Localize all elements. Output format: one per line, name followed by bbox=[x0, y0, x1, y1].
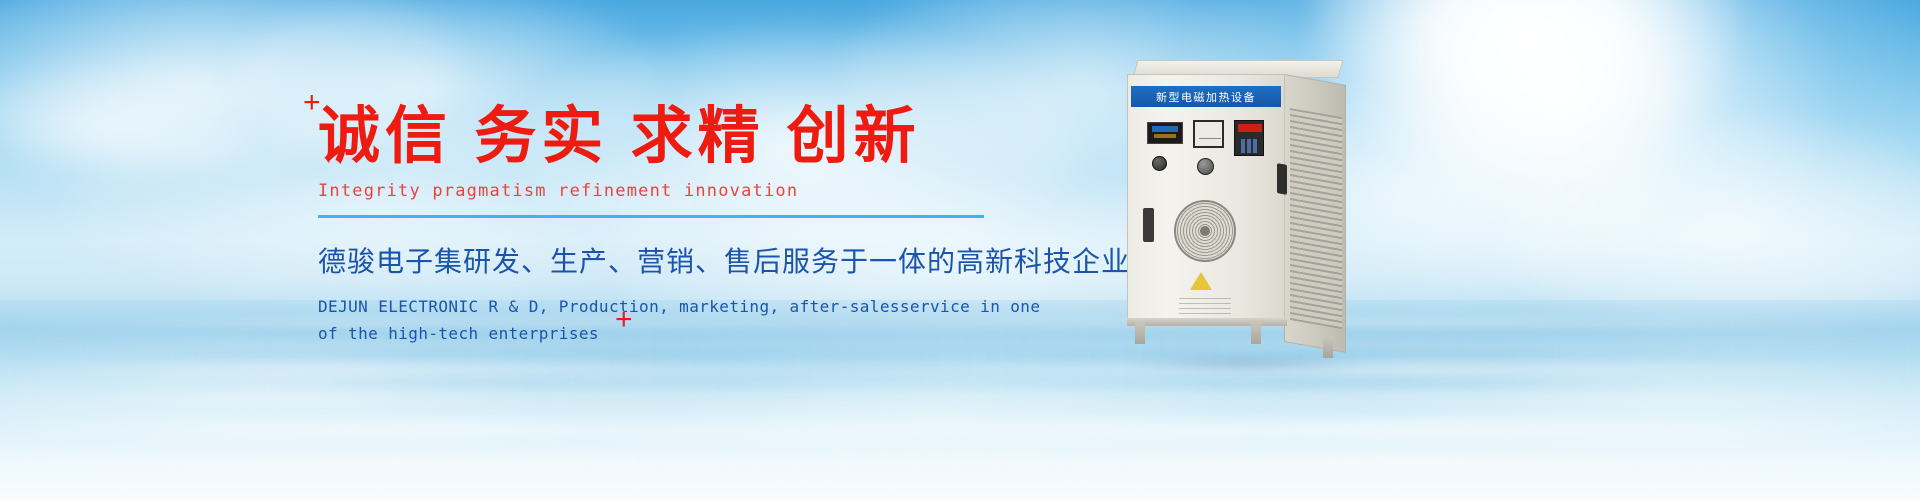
wave-streak bbox=[0, 455, 1920, 467]
cabinet-base bbox=[1127, 318, 1287, 326]
selector-knob-icon bbox=[1152, 156, 1167, 171]
dial-knob-icon bbox=[1197, 158, 1214, 175]
warning-triangle-icon bbox=[1190, 272, 1212, 290]
banner-text-block: 诚信 务实 求精 创新 Integrity pragmatism refinem… bbox=[318, 104, 1018, 347]
headline-chinese: 诚信 务实 求精 创新 bbox=[318, 104, 1018, 169]
promo-banner: + + 诚信 务实 求精 创新 Integrity pragmatism ref… bbox=[0, 0, 1920, 500]
wave-streak bbox=[0, 420, 1920, 438]
cabinet-foot bbox=[1323, 336, 1333, 358]
subtitle-chinese: 德骏电子集研发、生产、营销、售后服务于一体的高新科技企业 bbox=[318, 240, 1018, 280]
analog-gauge-icon bbox=[1193, 120, 1224, 148]
product-name-label: 新型电磁加热设备 bbox=[1156, 89, 1256, 105]
keypad-buttons-icon bbox=[1241, 139, 1259, 153]
led-readout-icon bbox=[1238, 124, 1262, 132]
wave-streak bbox=[0, 392, 1920, 402]
cabinet-foot bbox=[1251, 322, 1261, 344]
product-shadow bbox=[1121, 354, 1371, 372]
cabinet-vent-grille bbox=[1290, 108, 1342, 329]
spec-label bbox=[1179, 298, 1231, 318]
subtitle-english-line2: of the high-tech enterprises bbox=[318, 320, 1018, 347]
subtitle-english-line1: DEJUN ELECTRONIC R & D, Production, mark… bbox=[318, 293, 1018, 320]
cabinet-foot bbox=[1135, 322, 1145, 344]
door-handle-icon bbox=[1277, 163, 1287, 195]
cooling-fan-icon bbox=[1174, 200, 1236, 262]
product-image-heating-equipment: 新型电磁加热设备 bbox=[1127, 60, 1397, 360]
headline-english: Integrity pragmatism refinement innovati… bbox=[318, 181, 1018, 201]
digital-display-icon bbox=[1147, 122, 1183, 144]
side-port-icon bbox=[1143, 208, 1154, 242]
divider-rule bbox=[318, 215, 984, 218]
control-keypad-icon bbox=[1234, 120, 1264, 156]
product-name-banner: 新型电磁加热设备 bbox=[1131, 86, 1281, 107]
wave-streak bbox=[0, 362, 1920, 376]
